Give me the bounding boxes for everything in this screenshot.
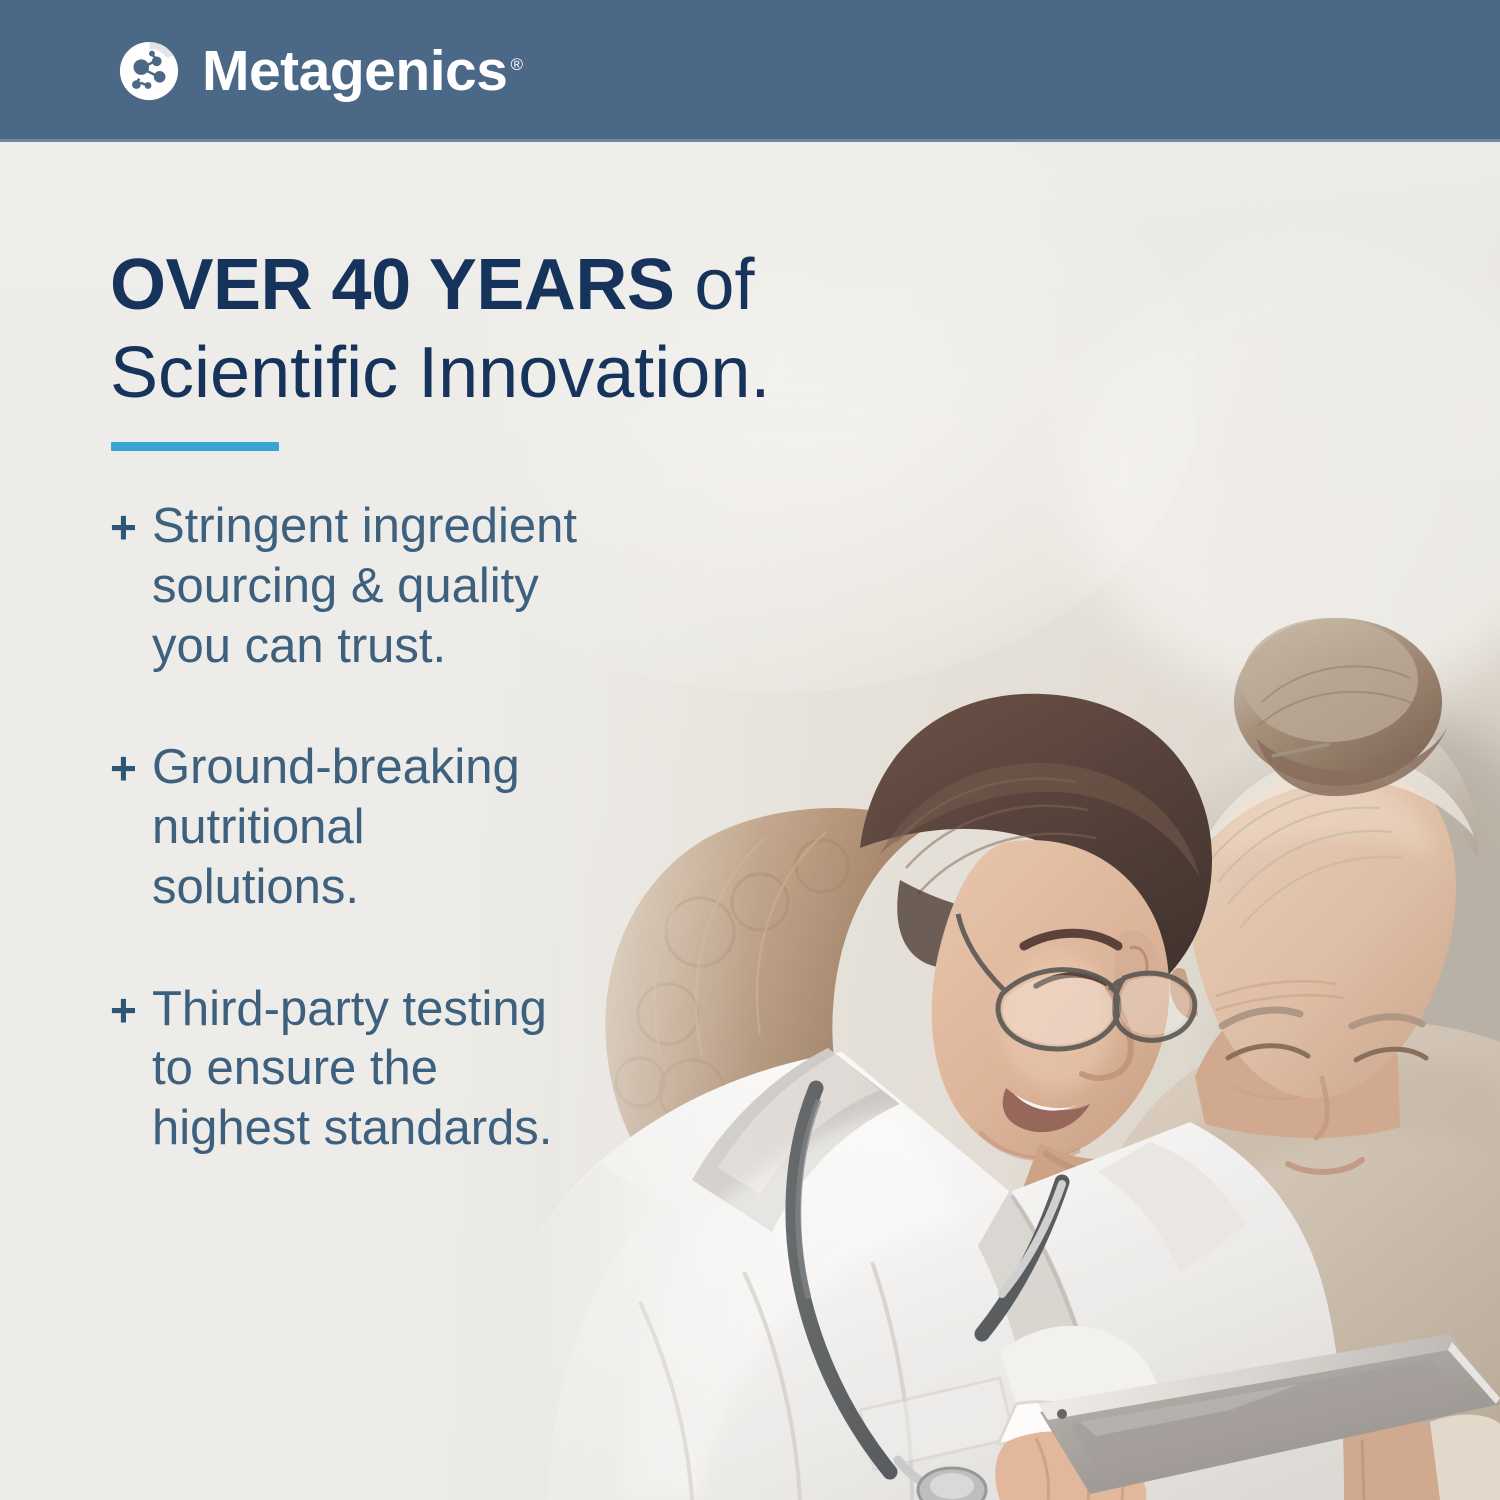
accent-divider <box>111 442 279 451</box>
brand-wordmark: Metagenics® <box>202 43 523 100</box>
list-item-text: Stringent ingredient sourcing & quality … <box>152 497 770 676</box>
brand-header-bar: Metagenics® <box>0 0 1500 142</box>
metagenics-molecule-circle-logo-icon <box>118 40 180 102</box>
plus-icon: + <box>110 980 152 1038</box>
list-item-text: Ground-breaking nutritional solutions. <box>152 738 770 917</box>
plus-icon: + <box>110 738 152 796</box>
list-item: + Third-party testing to ensure the high… <box>110 980 770 1159</box>
headline-line-1: OVER 40 YEARS of <box>110 244 930 326</box>
brand-logo-lockup[interactable]: Metagenics® <box>118 40 523 102</box>
marketing-banner: Metagenics® OVER 40 YEARS of Scientific … <box>0 0 1500 1500</box>
list-item: + Stringent ingredient sourcing & qualit… <box>110 497 770 676</box>
page-title: OVER 40 YEARS of Scientific Innovation. <box>110 244 930 414</box>
registered-trademark-symbol: ® <box>510 55 523 74</box>
benefits-list: + Stringent ingredient sourcing & qualit… <box>110 497 770 1159</box>
brand-name: Metagenics <box>202 39 507 103</box>
plus-icon: + <box>110 497 152 555</box>
headline-emphasis: OVER 40 YEARS <box>110 245 674 325</box>
list-item-text: Third-party testing to ensure the highes… <box>152 980 770 1159</box>
list-item: + Ground-breaking nutritional solutions. <box>110 738 770 917</box>
headline-connector: of <box>674 245 754 325</box>
headline-line-2: Scientific Innovation. <box>110 332 930 414</box>
